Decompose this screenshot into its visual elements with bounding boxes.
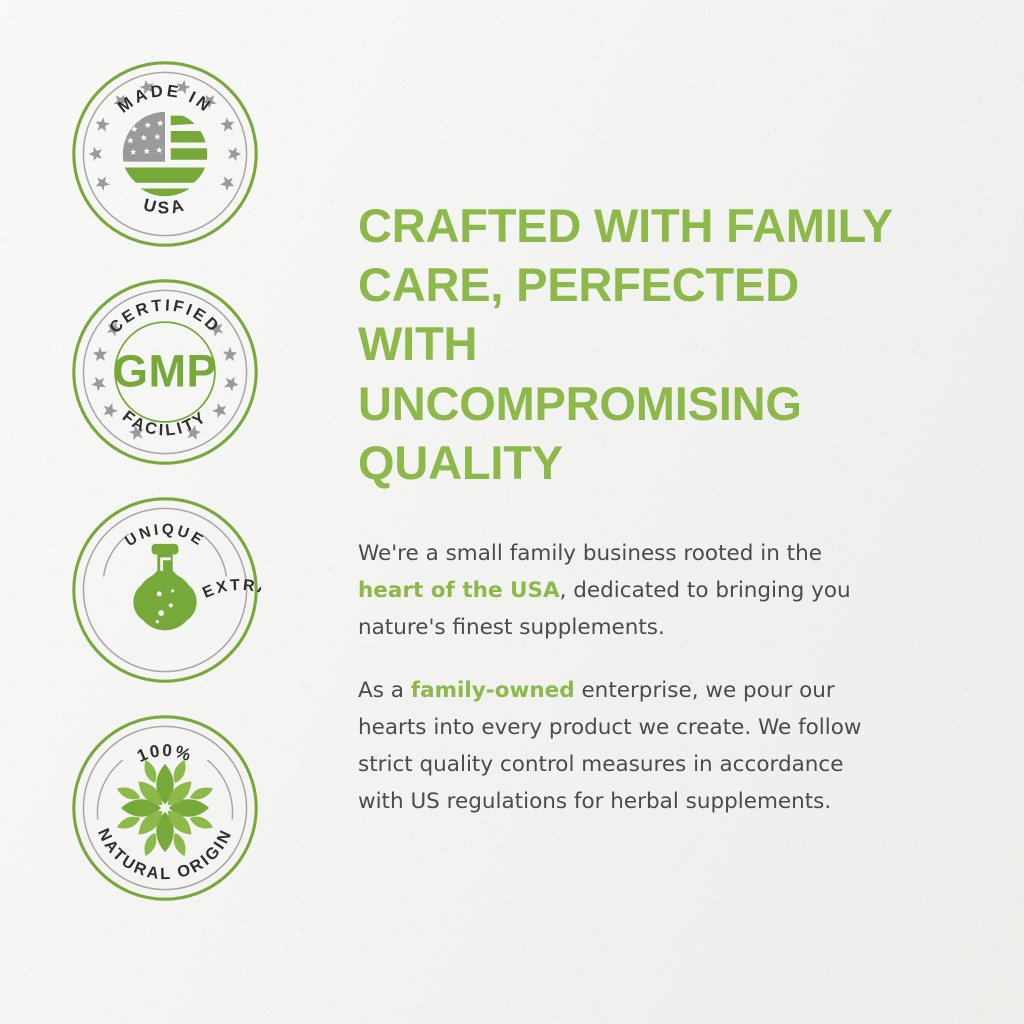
highlighted-phrase: heart of the USA [358, 578, 560, 603]
decorative-arc [201, 534, 226, 576]
badge-bottom-label: USA [141, 194, 188, 217]
badge-gmp-certified-facility: GMP CERTIFIED FACILITY [69, 276, 261, 468]
page-title: CRAFTED WITH FAMILY CARE, PERFECTED WITH… [358, 196, 904, 492]
badge-bottom-label: FACILITY [119, 407, 211, 439]
gmp-text-icon: GMP [113, 345, 217, 396]
leaf-rosette-icon [115, 758, 215, 858]
certification-badge-column: MADE IN USA [0, 0, 330, 1024]
decorative-arc [104, 534, 129, 576]
badge-top-label: MADE IN [114, 81, 216, 117]
badge-top-label: 100% [134, 740, 195, 766]
body-paragraph-1: We're a small family business rooted in … [358, 536, 888, 647]
badge-made-in-usa: MADE IN USA [69, 58, 261, 250]
flask-leaf-icon [133, 544, 196, 630]
usa-flag-circle-icon [123, 112, 209, 198]
body-text: We're a small family business rooted in … [358, 541, 822, 566]
badge-unique-extraction-method: UNIQUE EXTRACTION METHOD [69, 494, 261, 686]
highlighted-phrase: family-owned [411, 678, 575, 703]
badge-natural-origin: 100% NATURAL ORIGIN [69, 712, 261, 904]
body-text: As a [358, 678, 411, 703]
body-paragraph-2: As a family-owned enterprise, we pour ou… [358, 673, 888, 821]
copy-column: CRAFTED WITH FAMILY CARE, PERFECTED WITH… [330, 0, 1024, 1024]
badge-left-label: EXTRACTION [200, 577, 261, 642]
